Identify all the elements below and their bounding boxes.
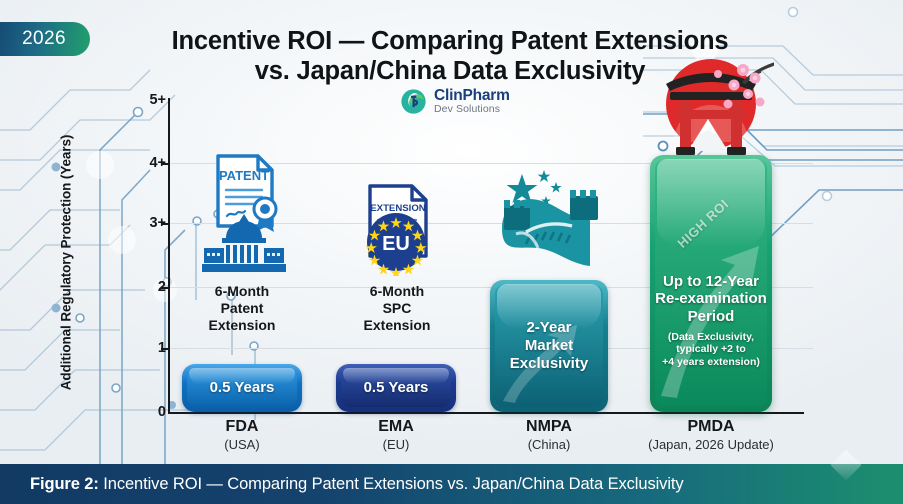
figure-caption-prefix: Figure 2:	[30, 475, 99, 493]
infographic-stage: 2026 Incentive ROI — Comparing Patent Ex…	[0, 0, 903, 504]
bar-nmpa-label-line1: 2-Year	[510, 319, 588, 337]
bar-pmda-label-line3: Period	[655, 308, 767, 326]
y-tick-label-1: 1	[136, 340, 166, 356]
bar-pmda[interactable]: HIGH ROI Up to 12-Year Re-examination Pe…	[650, 155, 772, 412]
x-tick-pmda-sublabel: (Japan, 2026 Update)	[611, 437, 811, 452]
y-tick-label-4: 4+	[136, 155, 166, 171]
bar-group-ema: 0.5 Years	[336, 0, 456, 460]
bar-pmda-sub-line1: (Data Exclusivity,	[662, 331, 760, 344]
x-tick-pmda-label: PMDA	[611, 418, 811, 436]
y-tick-label-2: 2	[136, 279, 166, 295]
bar-group-fda: 0.5 Years	[182, 0, 302, 460]
bar-chart: Additional Regulatory Protection (Years)…	[0, 0, 903, 460]
x-tick-pmda: PMDA (Japan, 2026 Update)	[611, 418, 811, 452]
high-roi-tag: HIGH ROI	[674, 196, 731, 251]
bar-pmda-label-line2: Re-examination	[655, 290, 767, 308]
bar-ema[interactable]: 0.5 Years	[336, 364, 456, 412]
bar-pmda-value-label: Up to 12-Year Re-examination Period	[655, 273, 767, 326]
bar-nmpa-value-label: 2-Year Market Exclusivity	[510, 319, 588, 372]
figure-caption-body: Incentive ROI — Comparing Patent Extensi…	[99, 475, 684, 493]
bar-pmda-sub-line2: typically +2 to	[662, 343, 760, 356]
y-tick-label-5: 5+	[136, 92, 166, 108]
figure-caption-bar: Figure 2: Incentive ROI — Comparing Pate…	[0, 464, 903, 504]
bar-pmda-sub-line3: +4 years extension)	[662, 356, 760, 369]
y-axis-title: Additional Regulatory Protection (Years)	[59, 113, 74, 413]
bar-ema-inner: 0.5 Years	[341, 369, 451, 407]
bar-nmpa-label-line3: Exclusivity	[510, 355, 588, 373]
bar-group-pmda: HIGH ROI Up to 12-Year Re-examination Pe…	[650, 0, 772, 460]
y-axis-ticks: 5+ 4+ 3+ 2 1 0	[134, 0, 166, 460]
bar-pmda-label-line1: Up to 12-Year	[655, 273, 767, 291]
bar-group-nmpa: 2-Year Market Exclusivity	[490, 0, 608, 460]
bar-fda-value-label: 0.5 Years	[210, 379, 275, 397]
bar-fda[interactable]: 0.5 Years	[182, 364, 302, 412]
bar-ema-value-label: 0.5 Years	[364, 379, 429, 397]
y-axis-line	[168, 98, 170, 414]
bar-fda-inner: 0.5 Years	[187, 369, 297, 407]
y-tick-label-3: 3+	[136, 215, 166, 231]
bar-nmpa-inner: 2-Year Market Exclusivity	[495, 285, 603, 407]
bar-pmda-sub-label: (Data Exclusivity, typically +2 to +4 ye…	[662, 331, 760, 369]
bar-nmpa-label-line2: Market	[510, 337, 588, 355]
bar-nmpa[interactable]: 2-Year Market Exclusivity	[490, 280, 608, 412]
bar-pmda-inner: HIGH ROI Up to 12-Year Re-examination Pe…	[655, 160, 767, 407]
figure-caption-text: Figure 2: Incentive ROI — Comparing Pate…	[0, 475, 684, 494]
